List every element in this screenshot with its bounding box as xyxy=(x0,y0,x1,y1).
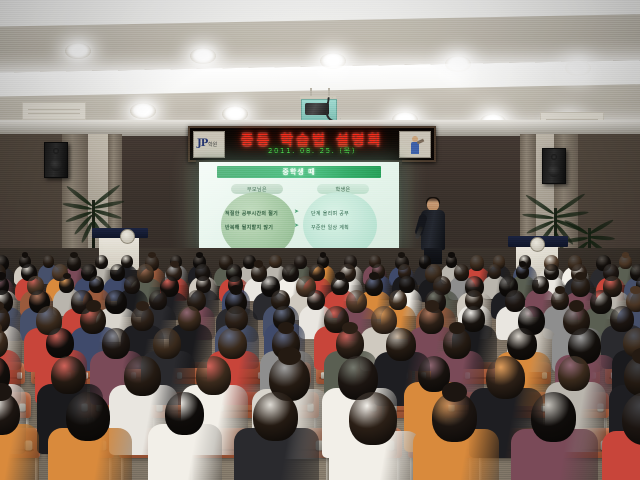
audience-head xyxy=(124,356,160,396)
slide-right-line-2: 꾸준한 일상 계획 xyxy=(311,224,349,231)
audience-member xyxy=(66,392,159,480)
audience-hair-bun xyxy=(622,252,629,258)
downlight-icon xyxy=(190,48,216,64)
audience-hair-bun xyxy=(230,285,242,295)
audience-head xyxy=(253,392,298,441)
ceiling-projector xyxy=(296,88,340,122)
downlight-icon xyxy=(130,103,156,119)
slide-right-line-1: 단계 올리며 공부 xyxy=(311,210,349,217)
audience-hair-bun xyxy=(448,252,455,257)
audience-head xyxy=(558,356,590,391)
downlight-icon xyxy=(565,60,591,76)
downlight-icon xyxy=(65,43,91,59)
slide-title-bar: 중학생 때 xyxy=(217,166,381,178)
audience-head xyxy=(153,328,181,359)
logo-subtext: 학원 xyxy=(208,141,217,148)
downlight-icon xyxy=(445,56,471,72)
audience-head xyxy=(218,328,246,359)
audience-hair-bun xyxy=(555,286,565,294)
audience-hair-bun xyxy=(170,261,179,268)
audience-hair-bun xyxy=(342,322,358,334)
led-banner-date: 2011. 08. 25. (목) xyxy=(224,146,400,156)
led-banner: 중등 학습법 설명회 2011. 08. 25. (목) JP 학원 xyxy=(188,126,436,162)
logo-mark: JP xyxy=(197,138,207,149)
downlight-icon xyxy=(320,53,346,69)
audience-hair-bun xyxy=(320,252,327,257)
audience-hair-bun xyxy=(519,261,527,267)
audience-head xyxy=(349,392,397,445)
wall-speaker-right xyxy=(542,148,566,184)
audience-hair-bun xyxy=(196,252,203,257)
audience-head xyxy=(46,328,73,358)
slide-left-circle xyxy=(221,192,295,251)
audience-hair-bun xyxy=(425,300,439,311)
banner-logo-left: JP 학원 xyxy=(193,131,225,158)
ceiling xyxy=(0,0,640,128)
slide-left-line-2: 반복해 될지할지 않기 xyxy=(225,224,273,231)
audience-head xyxy=(531,392,577,442)
seminar-hall-photograph: 중등 학습법 설명회 2011. 08. 25. (목) JP 학원 중학생 때… xyxy=(0,0,640,480)
slide-left-line-1: 적절한 공부시간의 절기 xyxy=(225,210,278,217)
projection-screen: 중학생 때 부모님은 학생은 적절한 공부시간의 절기 반복해 될지할지 않기 … xyxy=(199,162,399,251)
audience-hair-bun xyxy=(22,252,29,257)
audience-hair-bun xyxy=(449,322,465,334)
audience-hair-bun xyxy=(136,301,149,311)
arrow-right-icon-1: ➤ xyxy=(294,208,299,215)
slide-right-circle xyxy=(303,192,377,251)
audience-head xyxy=(165,392,204,435)
audience-head xyxy=(196,356,232,395)
audience-hair-bun xyxy=(86,300,100,311)
audience-hair-bun xyxy=(254,260,263,267)
wall-speaker-left xyxy=(44,142,68,178)
audience-hair-bun xyxy=(335,272,345,280)
audience-hair-bun xyxy=(278,347,301,365)
ac-vent-left xyxy=(22,102,86,120)
audience-member xyxy=(622,392,640,480)
audience-hair-bun xyxy=(630,286,640,295)
audience-head xyxy=(51,356,86,394)
slide-title-text: 중학생 때 xyxy=(282,167,315,177)
banner-mascot-right xyxy=(399,131,431,158)
arrow-right-icon-2: ➤ xyxy=(294,222,299,229)
audience-head xyxy=(66,392,110,441)
audience-head xyxy=(102,328,130,359)
audience-hair-bun xyxy=(0,272,6,280)
